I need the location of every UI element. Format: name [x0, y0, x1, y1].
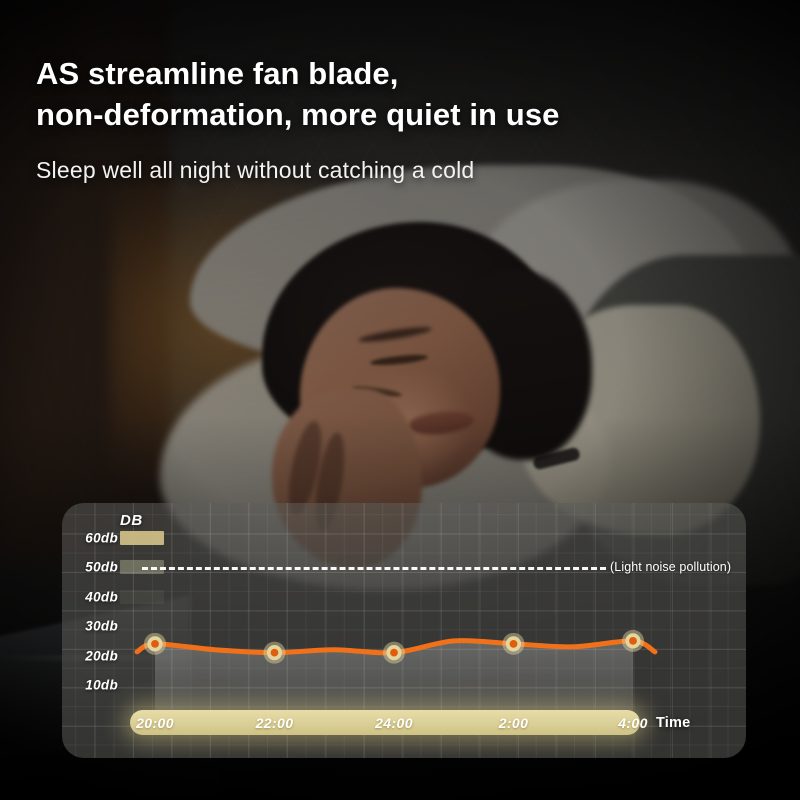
- x-axis-tick-2-00: 2:00: [499, 715, 529, 731]
- headline-line-2: non-deformation, more quiet in use: [36, 95, 756, 136]
- subheadline: Sleep well all night without catching a …: [36, 157, 756, 184]
- marker-point-20:00[interactable]: [151, 640, 159, 648]
- x-axis-tick-22-00: 22:00: [256, 715, 294, 731]
- copy-block: AS streamline fan blade, non-deformation…: [36, 54, 756, 184]
- noise-chart-panel: DB 60db50db40db30db20db10db (Light noise…: [62, 503, 746, 758]
- x-axis-tick-24-00: 24:00: [375, 715, 413, 731]
- x-axis-pill[interactable]: 20:0022:0024:002:004:00: [130, 710, 640, 735]
- x-axis-tick-4-00: 4:00: [618, 715, 648, 731]
- marker-point-22:00[interactable]: [271, 649, 279, 657]
- marker-point-4:00[interactable]: [629, 637, 637, 645]
- page-title: AS streamline fan blade, non-deformation…: [36, 54, 756, 135]
- x-axis-tick-20-00: 20:00: [136, 715, 174, 731]
- marker-point-24:00[interactable]: [390, 649, 398, 657]
- marker-point-2:00[interactable]: [510, 640, 518, 648]
- promo-banner: AS streamline fan blade, non-deformation…: [0, 0, 800, 800]
- x-axis-title: Time: [656, 710, 690, 735]
- headline-line-1: AS streamline fan blade,: [36, 56, 398, 91]
